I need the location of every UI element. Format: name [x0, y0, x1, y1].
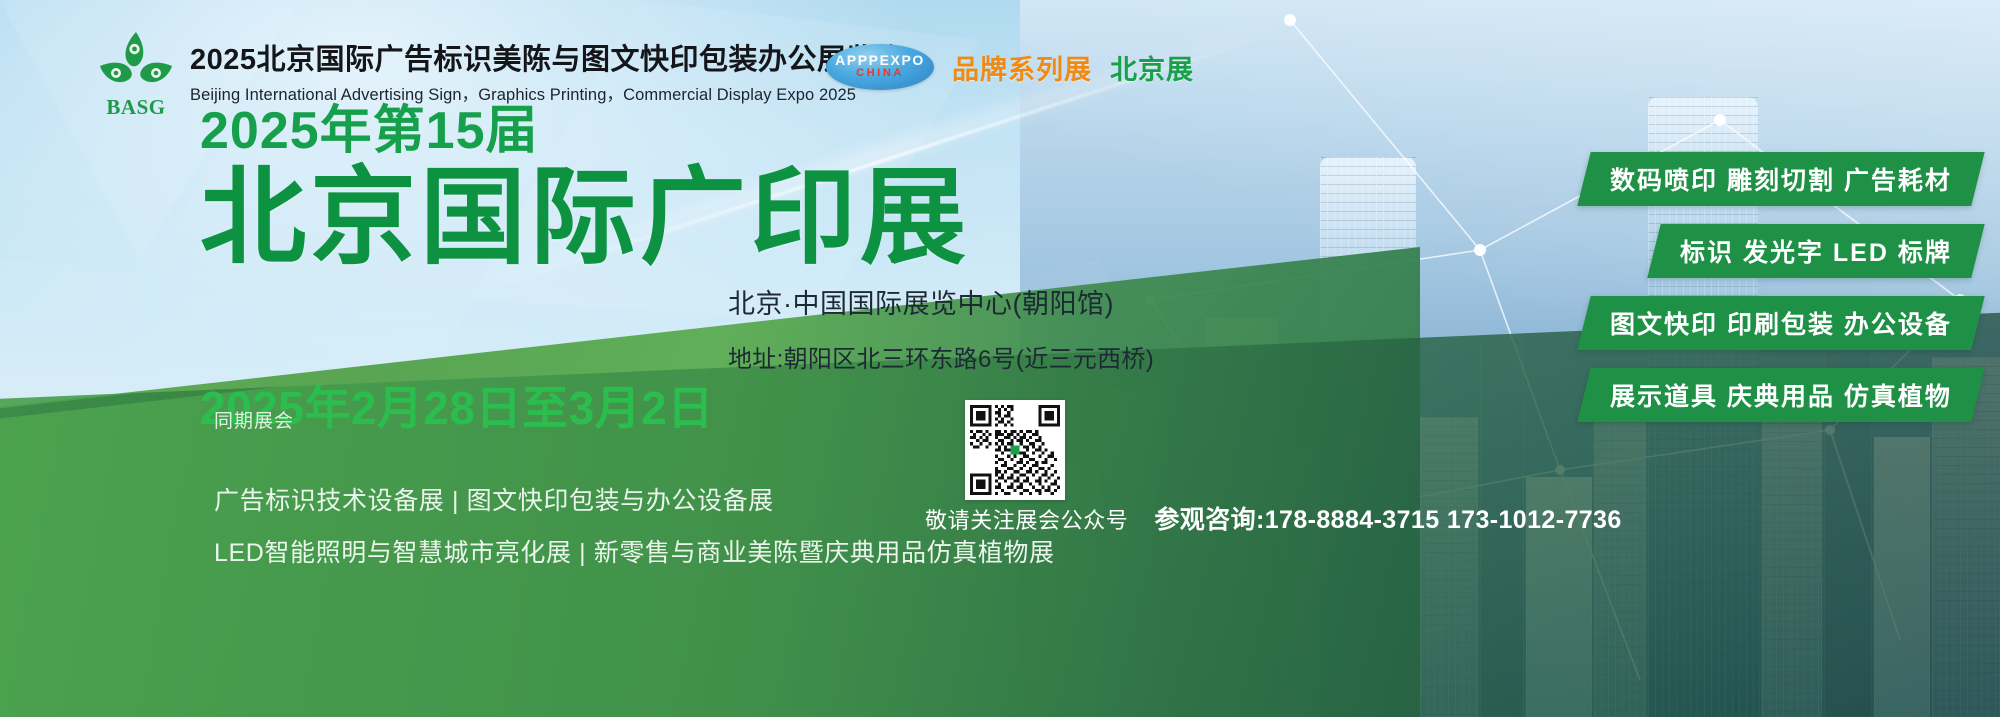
expo-title-english: Beijing International Advertising Sign，G…	[190, 81, 906, 105]
appexpo-wordmark: APPPEXPO	[835, 53, 925, 67]
expo-title-chinese: 2025北京国际广告标识美陈与图文快印包装办公展览会	[190, 43, 906, 77]
expo-banner: BASG 2025北京国际广告标识美陈与图文快印包装办公展览会 Beijing …	[0, 0, 2000, 717]
category-tag-list: 数码喷印 雕刻切割 广告耗材 标识 发光字 LED 标牌 图文快印 印刷包装 办…	[1584, 152, 1978, 422]
appexpo-logo: APPPEXPO CHINA	[826, 44, 934, 90]
basg-logo: BASG	[96, 30, 176, 118]
wechat-qr-code[interactable]	[965, 400, 1065, 500]
category-tag[interactable]: 展示道具 庆典用品 仿真植物	[1577, 368, 1984, 422]
brand-series-label: 品牌系列展	[952, 48, 1092, 87]
appexpo-country: CHINA	[856, 67, 904, 81]
venue-block: 北京·中国国际展览中心(朝阳馆) 地址:朝阳区北三环东路6号(近三元西桥)	[728, 282, 1154, 374]
qr-caption: 敬请关注展会公众号	[925, 503, 1128, 535]
concurrent-exhibitions: 同期展会 广告标识技术设备展 | 图文快印包装与办公设备展 LED智能照明与智慧…	[214, 406, 1055, 569]
contact-phones[interactable]: 参观咨询:178-8884-3715 173-1012-7736	[1154, 500, 1621, 536]
venue-name: 北京·中国国际展览中心(朝阳馆)	[728, 282, 1154, 321]
concurrent-label: 同期展会	[214, 406, 1055, 433]
category-tag[interactable]: 标识 发光字 LED 标牌	[1647, 224, 1984, 278]
basg-wordmark: BASG	[96, 95, 176, 120]
category-tag-label: 图文快印 印刷包装 办公设备	[1610, 305, 1952, 341]
venue-address: 地址:朝阳区北三环东路6号(近三元西桥)	[728, 339, 1154, 374]
category-tag-label: 数码喷印 雕刻切割 广告耗材	[1610, 161, 1952, 197]
category-tag[interactable]: 图文快印 印刷包装 办公设备	[1577, 296, 1984, 350]
contact-row: 敬请关注展会公众号 参观咨询:178-8884-3715 173-1012-77…	[925, 500, 1622, 536]
qr-code-image	[970, 405, 1060, 495]
brand-city-label: 北京展	[1110, 48, 1194, 87]
brand-bar: APPPEXPO CHINA 品牌系列展 北京展	[826, 44, 1194, 90]
category-tag-label: 标识 发光字 LED 标牌	[1680, 233, 1952, 269]
hero-block: 2025年第15届 北京国际广印展	[200, 104, 970, 274]
concurrent-line-2: LED智能照明与智慧城市亮化展 | 新零售与商业美陈暨庆典用品仿真植物展	[214, 533, 1055, 569]
category-tag-label: 展示道具 庆典用品 仿真植物	[1610, 377, 1952, 413]
basg-trefoil-icon	[96, 30, 176, 100]
category-tag[interactable]: 数码喷印 雕刻切割 广告耗材	[1577, 152, 1984, 206]
expo-short-name: 北京国际广印展	[200, 163, 970, 274]
edition-title: 2025年第15届	[200, 104, 970, 159]
